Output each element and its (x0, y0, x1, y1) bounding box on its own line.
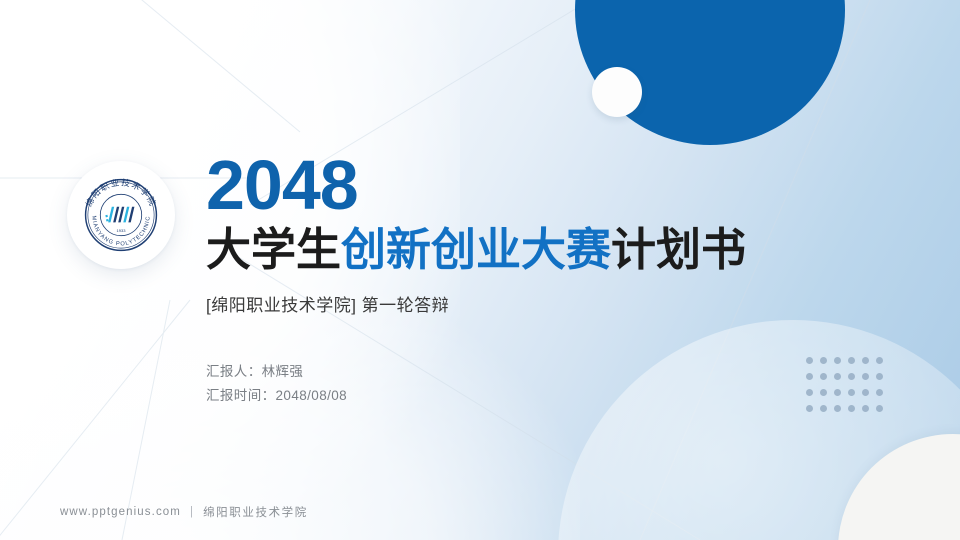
headline-segment-accent: 创新创业大赛 (341, 224, 611, 275)
headline-segment-lead: 大学生 (206, 224, 341, 275)
decorative-white-dot-circle (592, 67, 642, 117)
slide-meta-block: 汇报人：林辉强 汇报时间：2048/08/08 (206, 360, 906, 407)
headline-segment-tail: 计划书 (611, 224, 746, 275)
mianyang-polytechnic-seal-icon: 绵阳职业技术学院 MIANYANG POLYTECHNIC 1933 (75, 169, 167, 261)
slide-headline: 大学生创新创业大赛计划书 (206, 225, 906, 275)
footer-separator: | (190, 506, 194, 518)
slide-text-block: 2048 大学生创新创业大赛计划书 [绵阳职业技术学院] 第一轮答辩 汇报人：林… (206, 152, 906, 407)
slide-subtitle: [绵阳职业技术学院] 第一轮答辩 (206, 291, 906, 316)
university-logo-badge: 绵阳职业技术学院 MIANYANG POLYTECHNIC 1933 (67, 161, 175, 269)
footer-organization: 绵阳职业技术学院 (203, 504, 308, 520)
svg-text:1933: 1933 (117, 228, 127, 233)
slide-footer: www.pptgenius.com | 绵阳职业技术学院 (60, 504, 308, 520)
presentation-slide: 绵阳职业技术学院 MIANYANG POLYTECHNIC 1933 2048 … (0, 0, 960, 540)
slide-year: 2048 (206, 152, 906, 219)
presenter-line: 汇报人：林辉强 (206, 360, 906, 384)
report-date-line: 汇报时间：2048/08/08 (206, 384, 906, 408)
footer-website[interactable]: www.pptgenius.com (60, 506, 181, 518)
